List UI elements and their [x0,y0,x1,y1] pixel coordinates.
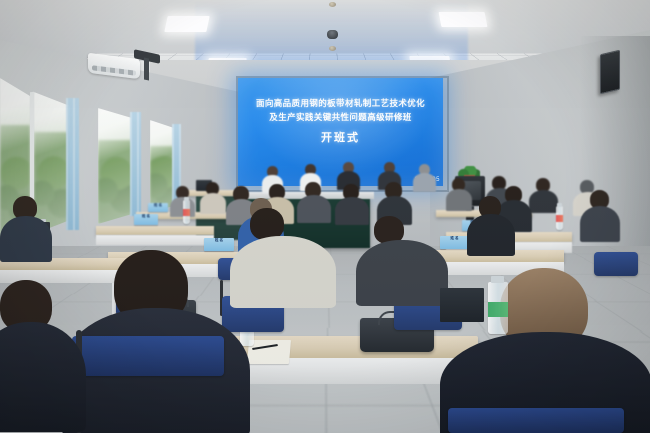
name-card-text: 姓 名 [148,203,168,209]
torso [413,173,436,192]
ceiling-camera-icon [327,30,338,39]
name-card[interactable]: 姓 名 [440,236,469,249]
ceiling-speaker-icon [329,2,336,7]
torso [580,206,620,242]
window-glare [98,108,132,224]
curtain [130,112,141,216]
chair[interactable] [448,408,624,433]
classroom-photo: 面向高品质用钢的板带材轧制工艺技术优化 及生产实践关键共性问题高级研修班 开班式… [0,0,650,433]
bottle-label [183,209,190,216]
torso [230,236,336,308]
bottle-label [556,215,563,222]
ceiling-light-panel [439,12,488,27]
desk-front-panel [96,235,214,245]
bottle-label [488,302,508,318]
bottle-cap [184,197,189,201]
torso [0,216,52,262]
chair[interactable] [594,252,638,276]
torso [467,214,515,256]
name-card[interactable]: 姓 名 [134,214,158,225]
window-glare [34,92,70,234]
torso [297,195,331,223]
torso [200,193,226,214]
name-card-text: 姓 名 [440,236,469,242]
student-desk [96,226,214,235]
name-card-text: 姓 名 [134,214,158,220]
water-bottle[interactable] [556,206,563,230]
bottle-cap [557,203,562,207]
ceiling-light-panel [164,16,209,32]
water-bottle[interactable] [488,282,508,334]
name-card[interactable]: 姓 名 [148,203,168,212]
torso [446,189,472,211]
name-card-text: 姓 名 [204,238,234,244]
screen-title-line-2: 及生产实践关键共性问题高级研修班 [238,110,443,124]
wall-speaker-icon [600,50,620,95]
ceiling-speaker-icon [329,46,336,51]
torso [335,197,369,225]
window-left-near [98,108,132,224]
chair[interactable] [72,336,224,376]
window-glare [150,120,174,212]
water-bottle[interactable] [183,200,190,224]
curtain [66,98,79,230]
torso [356,240,448,306]
laptop[interactable] [440,288,484,322]
screen-title-line-1: 面向高品质用钢的板带材轧制工艺技术优化 [238,96,443,110]
window-left-mid [34,92,70,234]
torso [529,190,558,213]
projector-arm [144,58,149,81]
screen-title-line-3: 开班式 [238,129,443,147]
name-card[interactable]: 姓 名 [204,238,234,251]
window-left-small [150,120,174,212]
screen-text-block: 面向高品质用钢的板带材轧制工艺技术优化 及生产实践关键共性问题高级研修班 开班式 [238,96,443,147]
bottle-cap [491,276,504,283]
